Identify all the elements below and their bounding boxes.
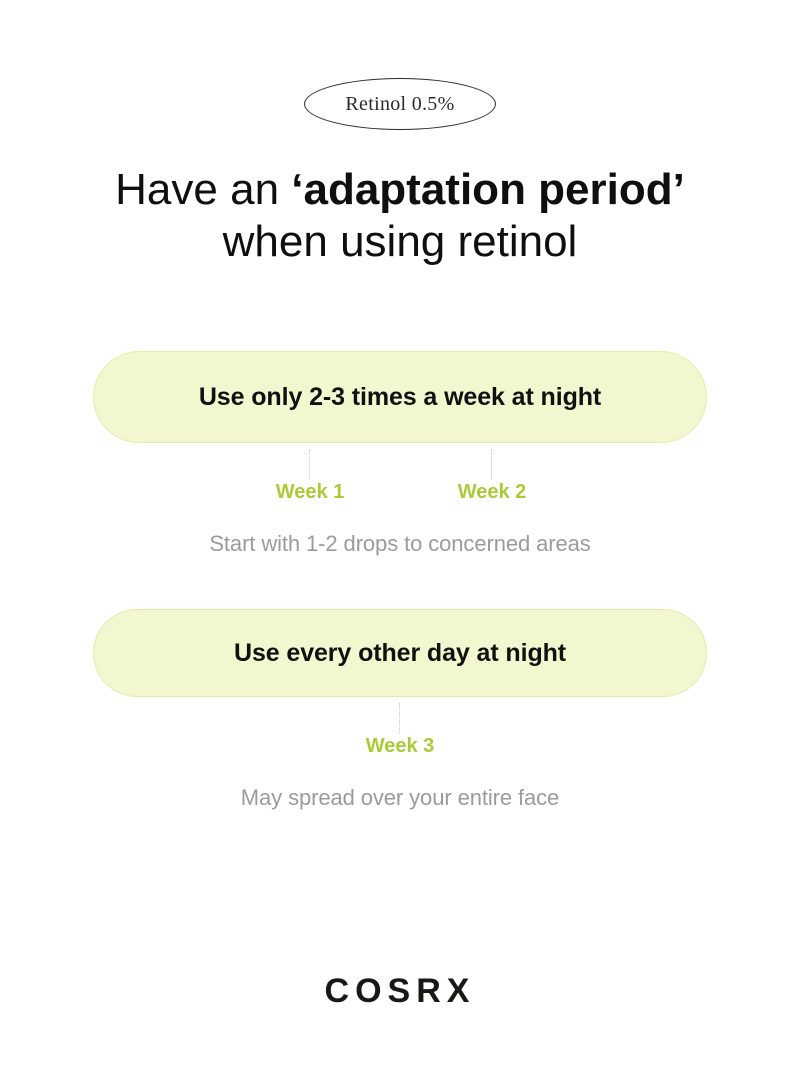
step-1-pill: Use only 2-3 times a week at night (93, 351, 707, 443)
footer: COSRX (0, 972, 800, 1011)
step-2-caption: May spread over your entire face (241, 785, 559, 811)
week-label-1: Week 1 (276, 481, 345, 504)
ingredient-badge: Retinol 0.5% (304, 78, 496, 130)
step-2-connectors (93, 697, 707, 735)
step-2-pill: Use every other day at night (93, 609, 707, 697)
page-title-line-1: Have an ‘adaptation period’ (30, 164, 770, 216)
dotted-connector-week-1-icon (309, 449, 310, 479)
step-1-caption: Start with 1-2 drops to concerned areas (209, 531, 590, 557)
step-2: Use every other day at night Week 3 May … (0, 609, 800, 811)
ingredient-badge-label: Retinol 0.5% (345, 93, 454, 116)
page-title-line-2: when using retinol (30, 216, 770, 268)
step-1-week-labels: Week 1 Week 2 (93, 481, 707, 511)
brand-logo: COSRX (325, 972, 476, 1011)
badge-container: Retinol 0.5% (0, 78, 800, 130)
page-title-line-1-bold: ‘adaptation period’ (291, 165, 685, 214)
step-1-pill-label: Use only 2-3 times a week at night (199, 383, 601, 412)
week-label-3: Week 3 (366, 735, 435, 758)
dotted-connector-week-3-icon (399, 703, 400, 733)
page-title: Have an ‘adaptation period’ when using r… (30, 164, 770, 268)
step-2-pill-label: Use every other day at night (234, 639, 566, 668)
dotted-connector-week-2-icon (491, 449, 492, 479)
infographic-poster: Retinol 0.5% Have an ‘adaptation period’… (0, 0, 800, 1067)
step-1: Use only 2-3 times a week at night Week … (0, 351, 800, 557)
week-label-2: Week 2 (458, 481, 527, 504)
page-title-line-1-light: Have an (115, 165, 291, 214)
step-1-connectors (93, 443, 707, 481)
step-2-week-labels: Week 3 (93, 735, 707, 765)
